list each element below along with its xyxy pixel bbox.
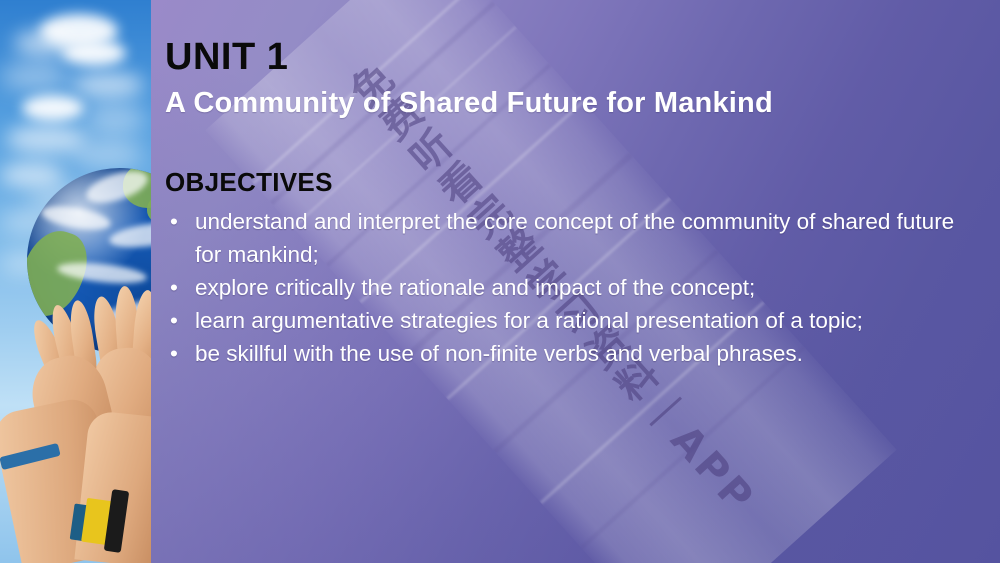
cloud-shape	[22, 95, 84, 121]
cloud-shape	[84, 104, 146, 134]
cloud-shape	[0, 62, 70, 90]
list-item-label: be skillful with the use of non-finite v…	[195, 341, 803, 366]
presentation-slide: 免费听看完整学习资料｜APP UNIT 1 A Community of Sha…	[0, 0, 1000, 563]
list-item: • understand and interpret the core conc…	[165, 205, 965, 271]
cloud-shape	[0, 162, 64, 188]
cloud-shape	[72, 72, 144, 98]
slide-text-content: UNIT 1 A Community of Shared Future for …	[165, 0, 1000, 563]
cloud-shape	[62, 40, 126, 66]
bullet-icon: •	[170, 337, 178, 370]
cloud-swirl	[108, 219, 151, 252]
bullet-icon: •	[170, 205, 178, 238]
hands-globe-sky-photo	[0, 0, 151, 563]
list-item: • explore critically the rationale and i…	[165, 271, 965, 304]
page-subtitle: A Community of Shared Future for Mankind	[165, 88, 773, 120]
page-title: UNIT 1	[165, 38, 288, 76]
list-item-label: explore critically the rationale and imp…	[195, 275, 755, 300]
bullet-icon: •	[170, 271, 178, 304]
list-item-label: learn argumentative strategies for a rat…	[195, 308, 863, 333]
list-item: • learn argumentative strategies for a r…	[165, 304, 965, 337]
list-item-label: understand and interpret the core concep…	[195, 209, 954, 267]
slide-body-panel: 免费听看完整学习资料｜APP UNIT 1 A Community of Sha…	[151, 0, 1000, 563]
bullet-icon: •	[170, 304, 178, 337]
list-item: • be skillful with the use of non-finite…	[165, 337, 965, 370]
cloud-shape	[70, 140, 144, 168]
objectives-heading: OBJECTIVES	[165, 167, 333, 198]
objectives-list: • understand and interpret the core conc…	[165, 205, 965, 370]
cloud-swirl	[40, 202, 112, 234]
